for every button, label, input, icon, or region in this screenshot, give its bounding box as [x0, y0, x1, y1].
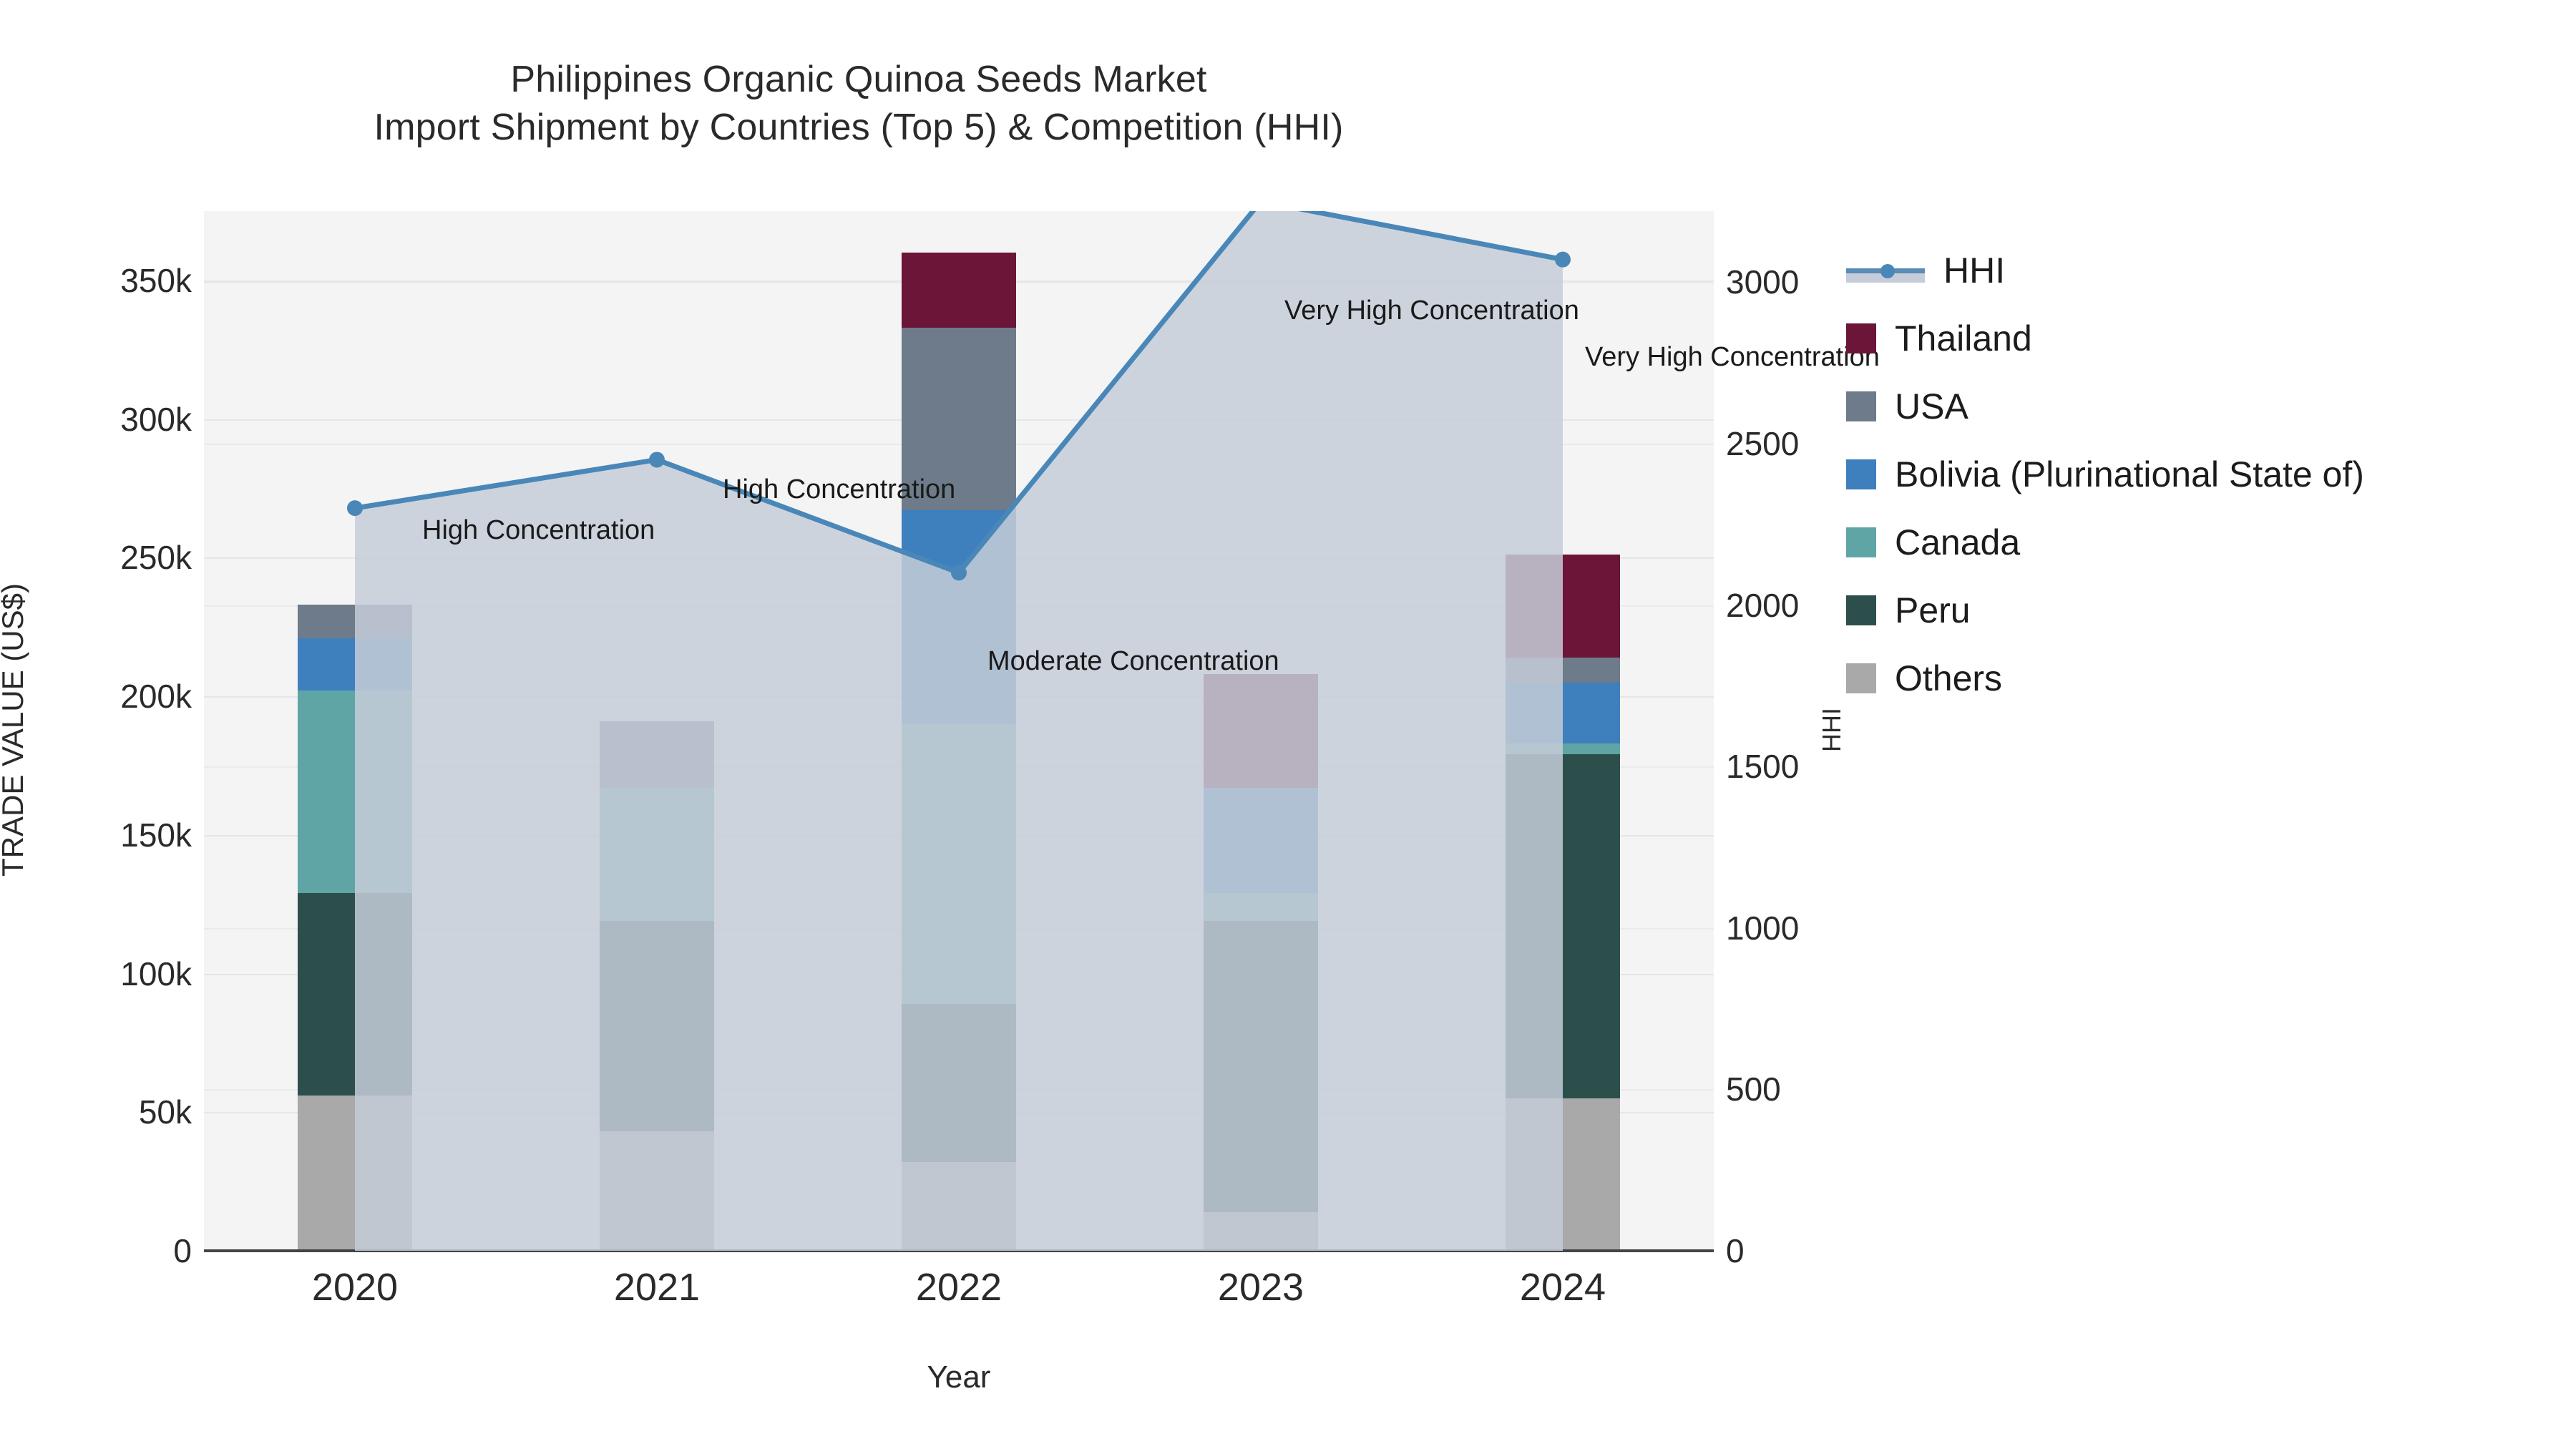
hhi-line-swatch-icon: [1846, 255, 1925, 286]
legend-swatch-icon: [1846, 663, 1876, 693]
y-tick-right: 1000: [1726, 909, 1799, 947]
bar-segment[interactable]: [600, 1131, 714, 1251]
chart-canvas: Philippines Organic Quinoa Seeds Market …: [0, 0, 2576, 1449]
bar-segment[interactable]: [1204, 674, 1318, 788]
bar-stack-2022[interactable]: [902, 211, 1016, 1251]
bar-stack-2021[interactable]: [600, 211, 714, 1251]
y-axis-right-title: HHI: [1817, 708, 1847, 752]
legend-item-others[interactable]: Others: [1846, 644, 2562, 712]
legend: HHIThailandUSABolivia (Plurinational Sta…: [1846, 236, 2562, 712]
bar-segment[interactable]: [902, 724, 1016, 1004]
bar-segment[interactable]: [600, 788, 714, 921]
bar-segment[interactable]: [1506, 683, 1620, 743]
bar-segment[interactable]: [902, 510, 1016, 723]
legend-item-canada[interactable]: Canada: [1846, 508, 2562, 576]
legend-item-hhi[interactable]: HHI: [1846, 236, 2562, 304]
x-axis-title: Year: [927, 1360, 991, 1395]
legend-label: Bolivia (Plurinational State of): [1895, 454, 2364, 495]
concentration-annotation: High Concentration: [723, 474, 955, 505]
legend-swatch-icon: [1846, 527, 1876, 557]
x-tick: 2020: [312, 1265, 398, 1309]
y-tick-right: 500: [1726, 1070, 1781, 1108]
bar-segment[interactable]: [1204, 1212, 1318, 1251]
y-tick-left: 250k: [120, 538, 192, 577]
legend-swatch-icon: [1846, 323, 1876, 353]
legend-item-thailand[interactable]: Thailand: [1846, 304, 2562, 372]
y-tick-left: 200k: [120, 677, 192, 716]
y-tick-left: 100k: [120, 955, 192, 993]
x-tick: 2024: [1520, 1265, 1606, 1309]
y-tick-left: 0: [173, 1231, 192, 1270]
legend-label: Others: [1895, 658, 2002, 699]
legend-label: Canada: [1895, 522, 2020, 563]
bar-segment[interactable]: [1506, 754, 1620, 1098]
bar-segment[interactable]: [600, 921, 714, 1131]
bar-segment[interactable]: [298, 605, 412, 638]
legend-label: Peru: [1895, 590, 1971, 631]
y-tick-left: 300k: [120, 400, 192, 439]
y-tick-right: 2000: [1726, 586, 1799, 625]
x-axis-line: [204, 1249, 1714, 1252]
x-tick: 2023: [1218, 1265, 1304, 1309]
bar-segment[interactable]: [1506, 1098, 1620, 1251]
bar-segment[interactable]: [1204, 921, 1318, 1212]
y-axis-left-title: TRADE VALUE (US$): [0, 583, 30, 877]
bar-stack-2020[interactable]: [298, 211, 412, 1251]
y-tick-right: 0: [1726, 1231, 1745, 1270]
bar-segment[interactable]: [902, 1004, 1016, 1162]
concentration-annotation: Very High Concentration: [1284, 296, 1579, 326]
bar-segment[interactable]: [298, 691, 412, 893]
legend-label: USA: [1895, 386, 1968, 427]
bar-segment[interactable]: [298, 1096, 412, 1251]
bar-segment[interactable]: [1506, 658, 1620, 683]
bar-segment[interactable]: [298, 638, 412, 691]
chart-title-block: Philippines Organic Quinoa Seeds Market …: [0, 56, 1717, 151]
legend-label: Thailand: [1895, 318, 2032, 359]
y-tick-left: 50k: [139, 1093, 192, 1131]
legend-swatch-icon: [1846, 595, 1876, 625]
chart-title-line-2: Import Shipment by Countries (Top 5) & C…: [0, 104, 1717, 152]
chart-title-line-1: Philippines Organic Quinoa Seeds Market: [0, 56, 1717, 104]
plot-area: [204, 211, 1714, 1251]
bar-segment[interactable]: [902, 253, 1016, 328]
y-tick-left: 350k: [120, 261, 192, 300]
x-tick: 2021: [614, 1265, 700, 1309]
concentration-annotation: High Concentration: [422, 515, 655, 546]
concentration-annotation: Moderate Concentration: [987, 646, 1279, 677]
legend-swatch-icon: [1846, 459, 1876, 489]
legend-label: HHI: [1943, 250, 2005, 291]
bar-segment[interactable]: [1204, 893, 1318, 921]
bar-segment[interactable]: [600, 721, 714, 788]
bar-segment[interactable]: [1506, 555, 1620, 657]
y-tick-right: 1500: [1726, 747, 1799, 786]
y-tick-left: 150k: [120, 816, 192, 854]
legend-item-usa[interactable]: USA: [1846, 372, 2562, 440]
bar-segment[interactable]: [1506, 743, 1620, 754]
y-tick-right: 2500: [1726, 424, 1799, 463]
bar-segment[interactable]: [902, 1162, 1016, 1251]
legend-item-peru[interactable]: Peru: [1846, 576, 2562, 644]
stacked-bars-group: [204, 211, 1714, 1251]
bar-stack-2023[interactable]: [1204, 211, 1318, 1251]
legend-item-bolivia-plurinational-state-of[interactable]: Bolivia (Plurinational State of): [1846, 440, 2562, 508]
y-tick-right: 3000: [1726, 263, 1799, 301]
bar-segment[interactable]: [1204, 788, 1318, 893]
legend-swatch-icon: [1846, 391, 1876, 421]
x-tick: 2022: [916, 1265, 1002, 1309]
bar-segment[interactable]: [298, 893, 412, 1096]
